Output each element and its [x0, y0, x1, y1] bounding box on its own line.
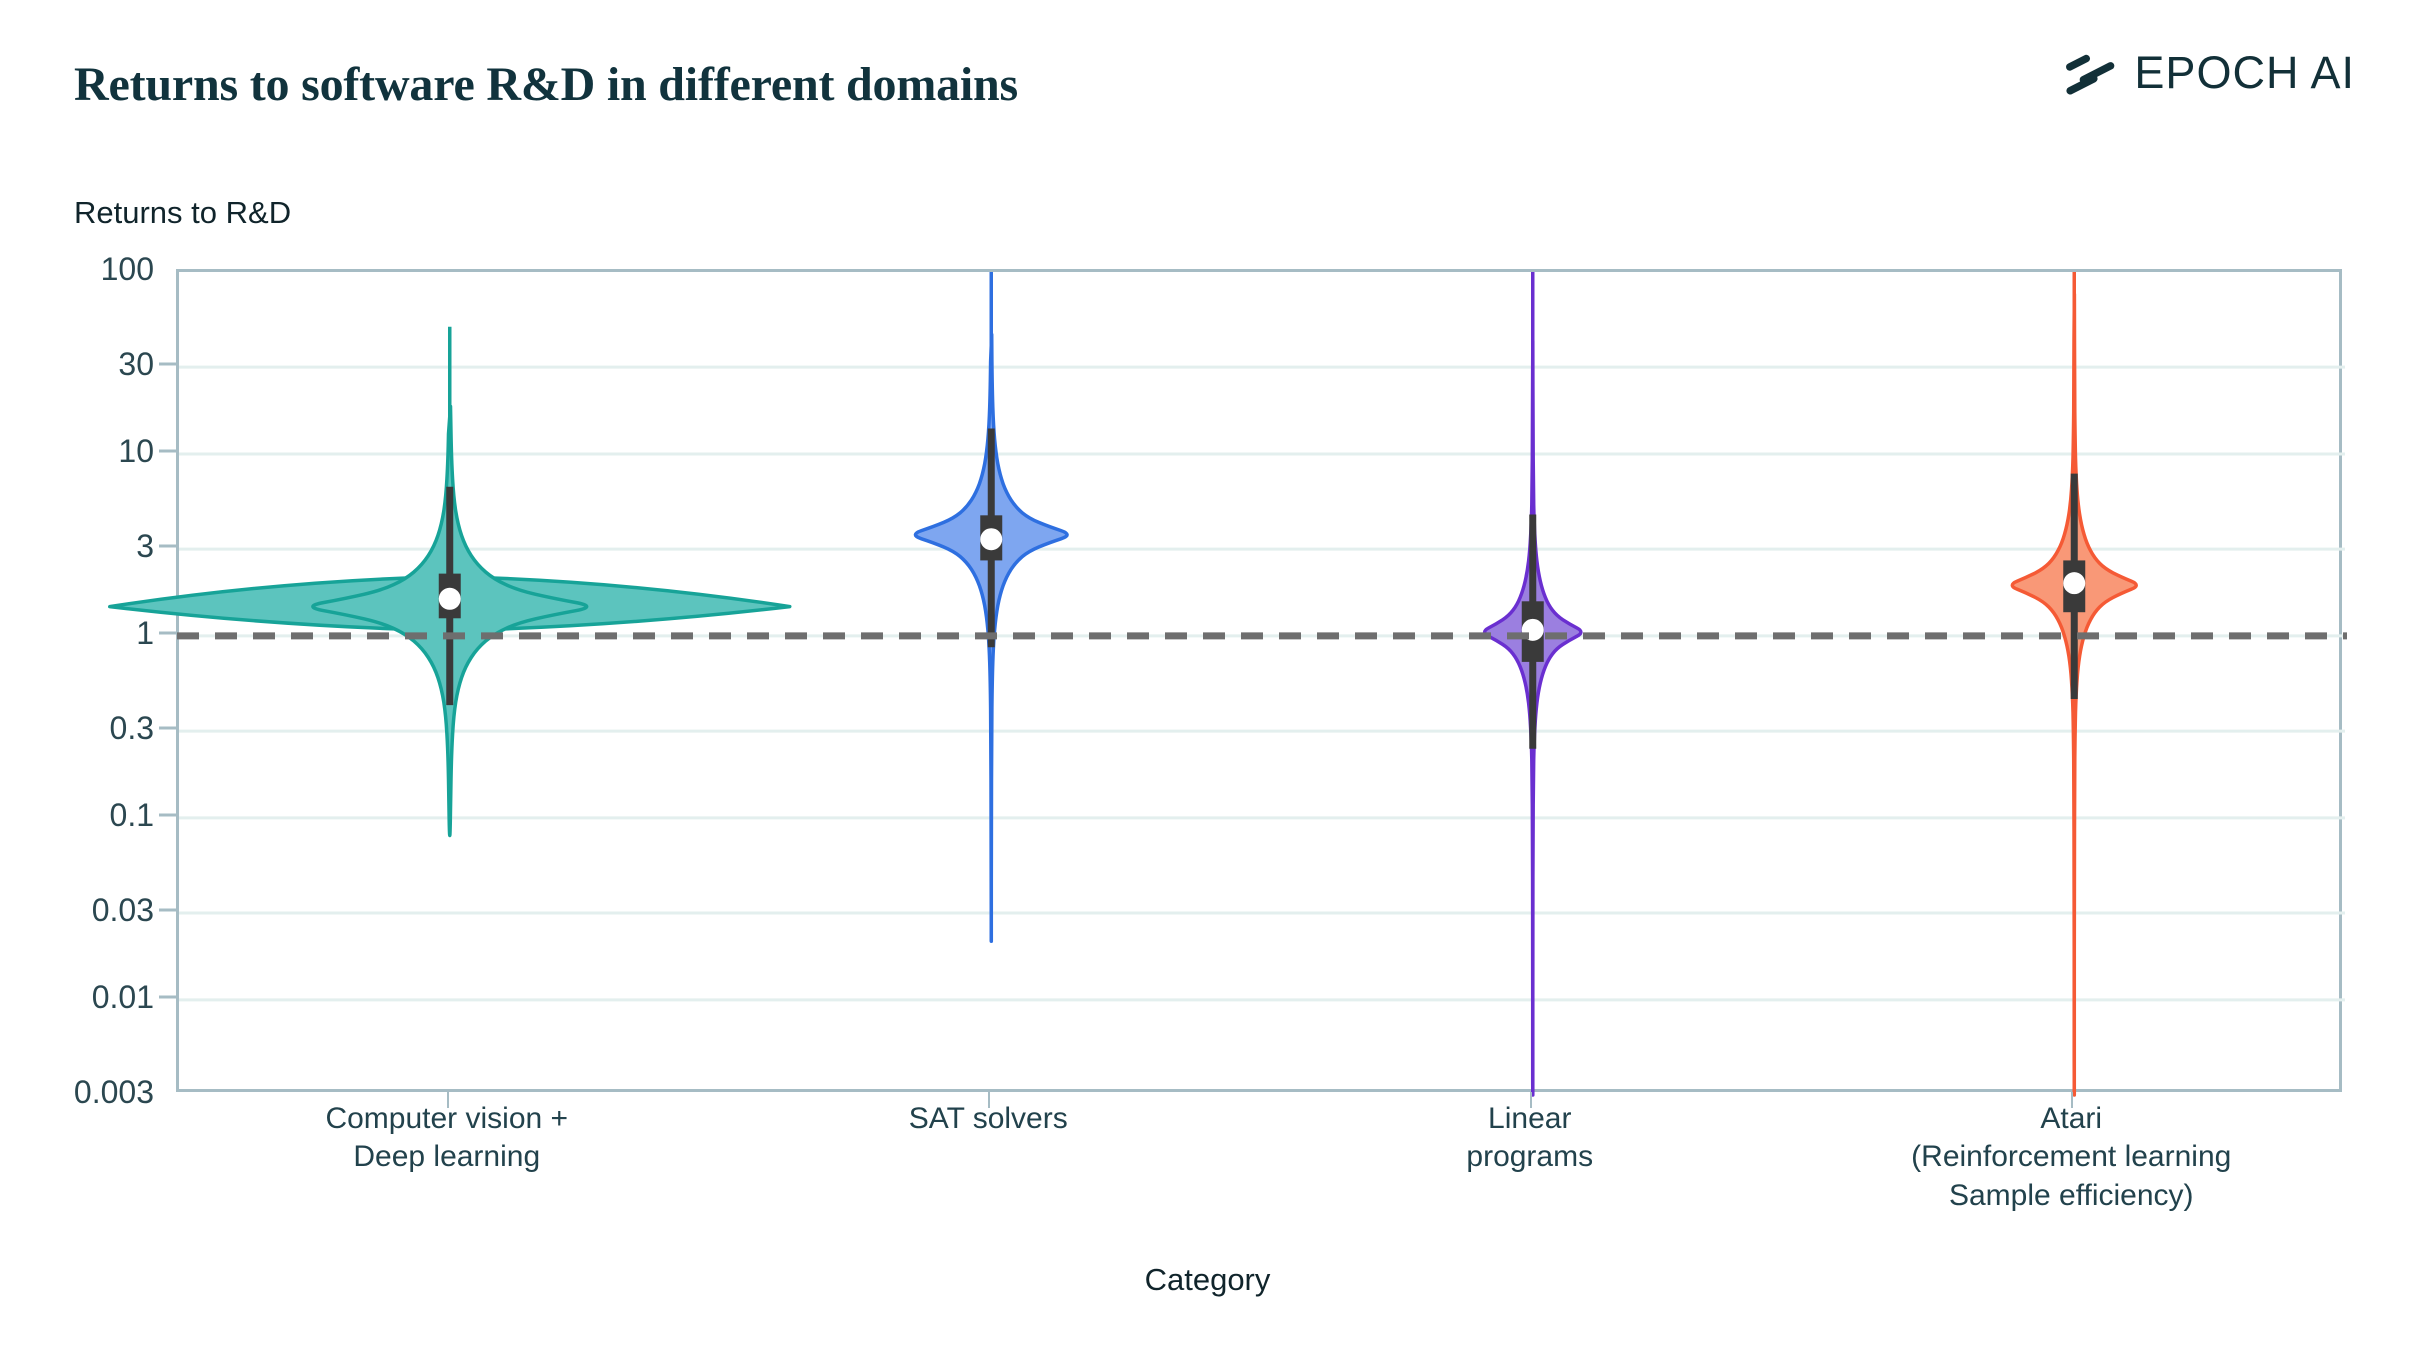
plot-area — [176, 269, 2342, 1092]
brand-name: EPOCH AI — [2134, 50, 2355, 95]
y-tick-mark — [159, 449, 176, 452]
x-tick-mark — [2071, 1092, 2073, 1108]
violin-3[interactable] — [1485, 272, 1581, 1095]
x-tick-label-line: Sample efficiency) — [1811, 1177, 2331, 1215]
x-tick-label-line: (Reinforcement learning — [1811, 1138, 2331, 1176]
median-marker — [980, 528, 1002, 550]
page-title: Returns to software R&D in different dom… — [74, 57, 1018, 112]
y-tick-label: 0.3 — [0, 712, 154, 744]
x-tick-label: Linearprograms — [1270, 1100, 1790, 1177]
x-axis-title: Category — [0, 1262, 2415, 1298]
x-tick-label-line: programs — [1270, 1138, 1790, 1176]
y-tick-label: 0.01 — [0, 981, 154, 1013]
x-tick-mark — [447, 1092, 449, 1108]
violin-1[interactable] — [110, 327, 790, 836]
violin-2[interactable] — [915, 272, 1067, 941]
y-tick-mark — [159, 813, 176, 816]
y-tick-label: 10 — [0, 435, 154, 467]
y-tick-mark — [159, 909, 176, 912]
y-tick-mark — [159, 631, 176, 634]
y-tick-label: 0.1 — [0, 799, 154, 831]
x-tick-label: Atari(Reinforcement learningSample effic… — [1811, 1100, 2331, 1215]
y-tick-label: 1 — [0, 617, 154, 649]
x-tick-mark — [988, 1092, 990, 1108]
y-tick-mark — [159, 363, 176, 366]
y-tick-label: 0.03 — [0, 894, 154, 926]
brand-logo: EPOCH AI — [2064, 50, 2355, 95]
y-tick-label: 0.003 — [0, 1076, 154, 1108]
y-tick-mark — [159, 545, 176, 548]
gridlines — [179, 367, 2345, 1000]
y-axis-title: Returns to R&D — [74, 195, 291, 231]
x-tick-label-line: Deep learning — [187, 1138, 707, 1176]
median-marker — [439, 588, 461, 610]
violin-series-group — [110, 272, 2137, 1095]
y-tick-label: 100 — [0, 253, 154, 285]
x-tick-mark — [1530, 1092, 1532, 1108]
violin-plot-svg — [179, 272, 2345, 1095]
violin-4[interactable] — [2012, 272, 2136, 1095]
y-tick-label: 30 — [0, 348, 154, 380]
chart-header: Returns to software R&D in different dom… — [0, 0, 2415, 160]
epoch-slashes-icon — [2064, 51, 2116, 95]
y-tick-mark — [159, 727, 176, 730]
median-marker — [2063, 572, 2085, 594]
y-tick-mark — [159, 995, 176, 998]
y-tick-label: 3 — [0, 530, 154, 562]
x-tick-label: Computer vision +Deep learning — [187, 1100, 707, 1177]
